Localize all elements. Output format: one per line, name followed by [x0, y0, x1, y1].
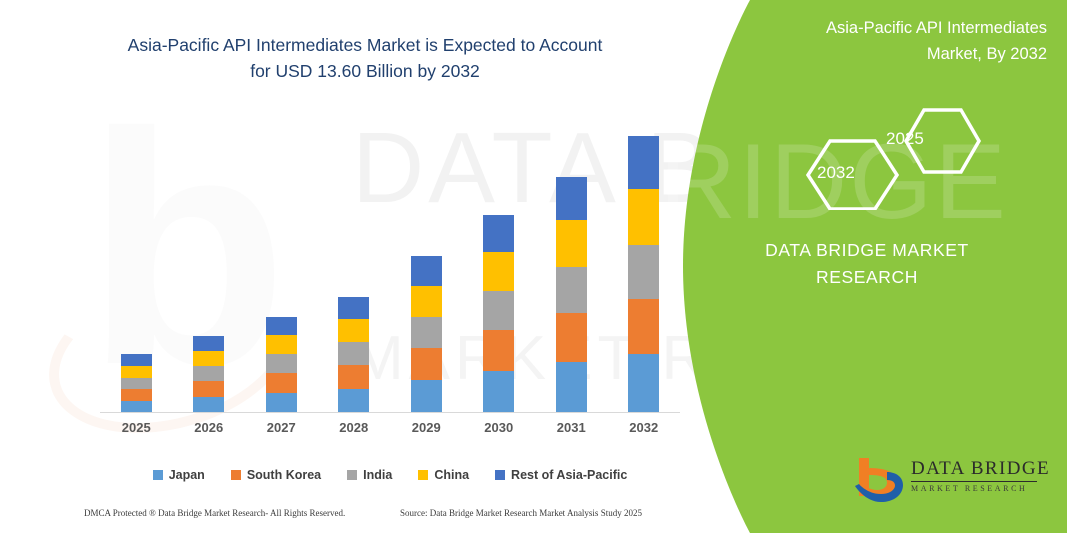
- legend-swatch-icon: [153, 470, 163, 480]
- legend-swatch-icon: [231, 470, 241, 480]
- bar-segment-2029-china: [411, 286, 442, 317]
- footer-source: Source: Data Bridge Market Research Mark…: [400, 508, 642, 518]
- bar-segment-2028-japan: [338, 389, 369, 413]
- bar-segment-2028-south-korea: [338, 365, 369, 389]
- x-axis-label-2031: 2031: [541, 420, 601, 435]
- data-bridge-logo: DATA BRIDGE MARKET RESEARCH: [853, 452, 1053, 510]
- bar-segment-2026-rest-of-asia-pacific: [193, 336, 224, 351]
- bar-segment-2026-japan: [193, 397, 224, 413]
- legend-label: South Korea: [247, 468, 321, 482]
- bar-column-2027[interactable]: [266, 317, 297, 413]
- bar-segment-2027-japan: [266, 393, 297, 413]
- bar-segment-2029-rest-of-asia-pacific: [411, 256, 442, 286]
- legend-label: Rest of Asia-Pacific: [511, 468, 627, 482]
- hexagon-2032-label: 2032: [817, 163, 855, 183]
- bar-segment-2027-south-korea: [266, 373, 297, 393]
- legend-item-rest-of-asia-pacific[interactable]: Rest of Asia-Pacific: [495, 468, 627, 482]
- bar-segment-2031-rest-of-asia-pacific: [556, 177, 587, 220]
- footer-copyright: DMCA Protected ® Data Bridge Market Rese…: [84, 508, 345, 518]
- footer: DMCA Protected ® Data Bridge Market Rese…: [0, 508, 700, 530]
- x-axis-label-2026: 2026: [179, 420, 239, 435]
- bar-segment-2028-china: [338, 319, 369, 342]
- bar-segment-2029-japan: [411, 380, 442, 413]
- bar-segment-2025-india: [121, 378, 152, 389]
- bar-segment-2032-china: [628, 189, 659, 245]
- x-axis-label-2032: 2032: [614, 420, 674, 435]
- bar-segment-2027-india: [266, 354, 297, 373]
- bar-segment-2028-india: [338, 342, 369, 365]
- legend-swatch-icon: [418, 470, 428, 480]
- panel-brand-line2: RESEARCH: [707, 264, 1027, 291]
- panel-heading: Asia-Pacific API Intermediates Market, B…: [727, 16, 1047, 67]
- bar-column-2029[interactable]: [411, 256, 442, 413]
- legend-item-china[interactable]: China: [418, 468, 469, 482]
- bar-segment-2032-india: [628, 245, 659, 299]
- bar-segment-2025-china: [121, 366, 152, 378]
- legend-swatch-icon: [495, 470, 505, 480]
- x-axis-label-2030: 2030: [469, 420, 529, 435]
- bar-segment-2031-china: [556, 220, 587, 267]
- bar-segment-2029-south-korea: [411, 348, 442, 380]
- bar-segment-2030-india: [483, 291, 514, 330]
- page-title-line2: for USD 13.60 Billion by 2032: [70, 58, 660, 84]
- bar-segment-2026-south-korea: [193, 381, 224, 397]
- x-axis-label-2029: 2029: [396, 420, 456, 435]
- bar-segment-2030-china: [483, 252, 514, 291]
- bar-segment-2025-south-korea: [121, 389, 152, 401]
- bar-column-2031[interactable]: [556, 177, 587, 413]
- logo-subtitle: MARKET RESEARCH: [911, 484, 1050, 493]
- panel-brand-text: DATA BRIDGE MARKET RESEARCH: [707, 237, 1027, 291]
- x-axis-label-2027: 2027: [251, 420, 311, 435]
- infographic-canvas: b DATA BRIDGE MARKET RESEARCH Asia-Pacif…: [0, 0, 1067, 533]
- panel-heading-line2: Market, By 2032: [727, 42, 1047, 68]
- bar-segment-2032-south-korea: [628, 299, 659, 354]
- hexagon-2025-label: 2025: [886, 129, 924, 149]
- legend-item-south-korea[interactable]: South Korea: [231, 468, 321, 482]
- bar-segment-2032-rest-of-asia-pacific: [628, 136, 659, 189]
- bar-segment-2025-rest-of-asia-pacific: [121, 354, 152, 366]
- legend-swatch-icon: [347, 470, 357, 480]
- bar-segment-2030-japan: [483, 371, 514, 413]
- panel-brand-line1: DATA BRIDGE MARKET: [707, 237, 1027, 264]
- panel-heading-line1: Asia-Pacific API Intermediates: [727, 16, 1047, 42]
- bar-segment-2031-india: [556, 267, 587, 313]
- logo-mark-icon: [853, 456, 905, 504]
- bar-segment-2030-south-korea: [483, 330, 514, 371]
- bar-segment-2026-india: [193, 366, 224, 381]
- x-axis-label-2028: 2028: [324, 420, 384, 435]
- page-title: Asia-Pacific API Intermediates Market is…: [70, 32, 660, 85]
- bar-segment-2026-china: [193, 351, 224, 366]
- bar-segment-2031-south-korea: [556, 313, 587, 362]
- logo-title: DATA BRIDGE: [911, 458, 1050, 480]
- legend-label: Japan: [169, 468, 205, 482]
- bar-column-2030[interactable]: [483, 215, 514, 413]
- chart-legend: JapanSouth KoreaIndiaChinaRest of Asia-P…: [100, 462, 680, 488]
- x-axis-labels: 20252026202720282029203020312032: [100, 420, 680, 444]
- bar-segment-2032-japan: [628, 354, 659, 413]
- bar-column-2025[interactable]: [121, 354, 152, 413]
- logo-text-block: DATA BRIDGE MARKET RESEARCH: [911, 458, 1050, 493]
- hexagon-group: 2032 2025: [795, 105, 995, 210]
- bar-column-2028[interactable]: [338, 297, 369, 413]
- page-title-line1: Asia-Pacific API Intermediates Market is…: [70, 32, 660, 58]
- bar-column-2026[interactable]: [193, 336, 224, 413]
- bar-segment-2031-japan: [556, 362, 587, 413]
- bar-segment-2030-rest-of-asia-pacific: [483, 215, 514, 252]
- bar-segment-2027-china: [266, 335, 297, 354]
- x-axis-line: [100, 412, 680, 413]
- legend-item-india[interactable]: India: [347, 468, 392, 482]
- legend-label: China: [434, 468, 469, 482]
- bar-column-2032[interactable]: [628, 136, 659, 413]
- bar-segment-2028-rest-of-asia-pacific: [338, 297, 369, 319]
- legend-item-japan[interactable]: Japan: [153, 468, 205, 482]
- bar-segment-2027-rest-of-asia-pacific: [266, 317, 297, 335]
- bar-chart-plot-area: [100, 100, 680, 413]
- bar-segment-2029-india: [411, 317, 442, 348]
- legend-label: India: [363, 468, 392, 482]
- x-axis-label-2025: 2025: [106, 420, 166, 435]
- logo-divider: [911, 481, 1037, 482]
